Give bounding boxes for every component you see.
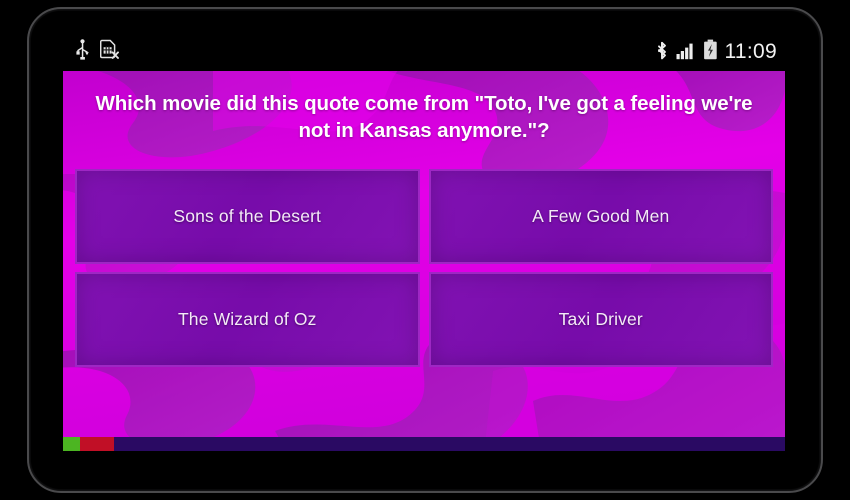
question-container: Which movie did this quote come from "To… (63, 71, 785, 163)
status-bar-clock: 11:09 (725, 40, 778, 64)
answer-option-4[interactable]: Taxi Driver (429, 272, 774, 367)
bluetooth-icon (655, 39, 669, 66)
status-bar-right-icons: 11:09 (655, 39, 786, 66)
status-bar-left-icons (63, 39, 119, 65)
no-sim-card-icon (100, 39, 119, 65)
android-tablet-device: 11:09 (0, 0, 850, 500)
progress-segment-correct (63, 437, 80, 451)
answer-option-1[interactable]: Sons of the Desert (75, 169, 420, 264)
battery-charging-icon (703, 39, 718, 65)
progress-bar (63, 437, 785, 451)
answer-option-1-label: Sons of the Desert (173, 206, 321, 227)
answer-option-3[interactable]: The Wizard of Oz (75, 272, 420, 367)
quiz-app-screen: Which movie did this quote come from "To… (63, 71, 785, 451)
question-text: Which movie did this quote come from "To… (81, 90, 767, 144)
signal-bars-icon (676, 40, 696, 65)
progress-segment-incorrect (80, 437, 113, 451)
progress-segment-remaining (114, 437, 785, 451)
answer-options-grid: Sons of the Desert A Few Good Men The Wi… (75, 169, 773, 367)
android-status-bar: 11:09 (63, 33, 785, 71)
answer-option-2[interactable]: A Few Good Men (429, 169, 774, 264)
usb-icon (75, 39, 90, 65)
answer-option-4-label: Taxi Driver (559, 309, 643, 330)
answer-option-3-label: The Wizard of Oz (178, 309, 317, 330)
answer-option-2-label: A Few Good Men (532, 206, 669, 227)
